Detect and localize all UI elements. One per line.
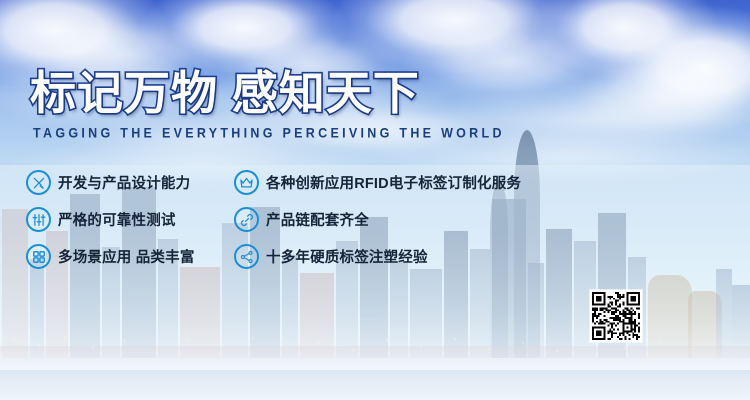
link-icon	[234, 207, 259, 232]
feature-label: 产品链配套齐全	[266, 209, 369, 230]
feature-column-right: 各种创新应用RFID电子标签订制化服务 产品链配套齐全	[234, 170, 521, 269]
sliders-icon	[26, 207, 51, 232]
promo-banner: 标记万物 感知天下 TAGGING THE EVERYTHING PERCEIV…	[0, 0, 750, 400]
crown-icon	[234, 170, 259, 195]
feature-label: 十多年硬质标签注塑经验	[266, 246, 428, 267]
share-icon	[234, 244, 259, 269]
page-title: 标记万物 感知天下	[30, 70, 505, 116]
feature-item-scenarios: 多场景应用 品类丰富	[26, 244, 195, 269]
feature-item-reliability: 严格的可靠性测试	[26, 207, 195, 232]
feature-item-development: 开发与产品设计能力	[26, 170, 195, 195]
title-block: 标记万物 感知天下 TAGGING THE EVERYTHING PERCEIV…	[30, 70, 505, 139]
feature-label: 开发与产品设计能力	[58, 172, 190, 193]
feature-column-left: 开发与产品设计能力 严格的可靠性测试	[26, 170, 195, 269]
feature-label: 严格的可靠性测试	[58, 209, 176, 230]
feature-item-rfid-service: 各种创新应用RFID电子标签订制化服务	[234, 170, 521, 195]
grid-icon	[26, 244, 51, 269]
page-subtitle: TAGGING THE EVERYTHING PERCEIVING THE WO…	[33, 125, 505, 141]
feature-item-supply-chain: 产品链配套齐全	[234, 207, 521, 232]
feature-label: 各种创新应用RFID电子标签订制化服务	[266, 172, 521, 193]
tools-icon	[26, 170, 51, 195]
qr-code[interactable]	[590, 290, 642, 342]
feature-item-experience: 十多年硬质标签注塑经验	[234, 244, 521, 269]
feature-label: 多场景应用 品类丰富	[58, 246, 195, 267]
